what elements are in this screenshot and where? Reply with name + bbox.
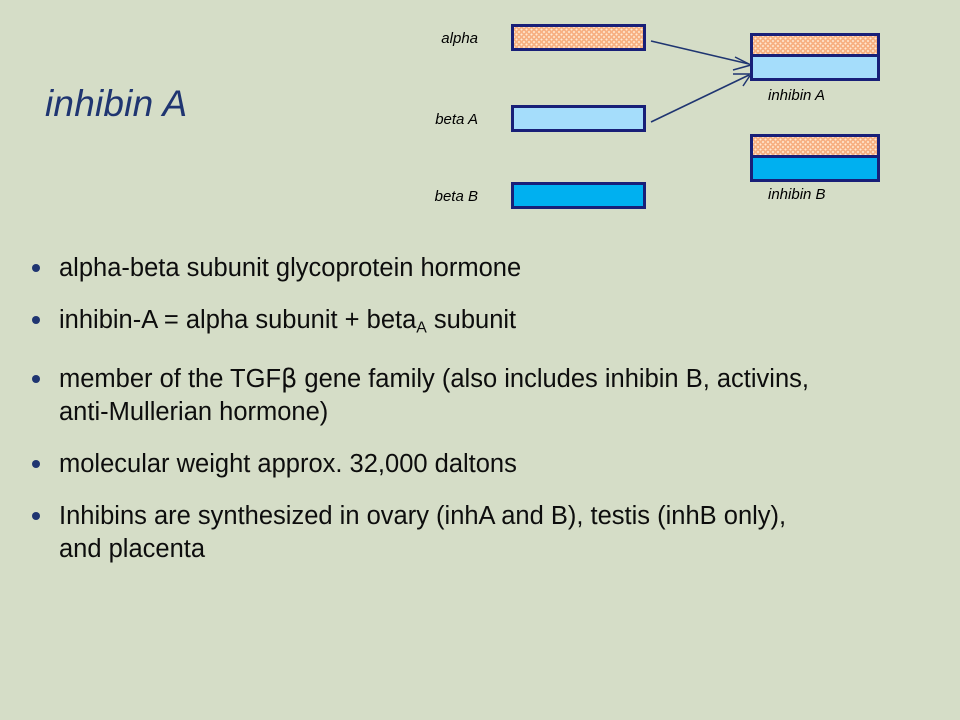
bar-subunit-alpha bbox=[511, 24, 646, 51]
bullet-text: member of the TGFβ gene family (also inc… bbox=[59, 363, 826, 429]
bullet-text-after: subunit bbox=[427, 306, 516, 334]
arrow-alpha-to-inhibinA bbox=[651, 41, 749, 64]
bullet-dot-icon bbox=[32, 460, 40, 468]
list-item: molecular weight approx. 32,000 daltons bbox=[26, 448, 826, 481]
label-complex-inhibin-b: inhibin B bbox=[768, 186, 826, 203]
label-subunit-beta-a: beta A bbox=[358, 111, 478, 128]
list-item: alpha-beta subunit glycoprotein hormone bbox=[26, 252, 826, 285]
list-item: inhibin-A = alpha subunit + betaA subuni… bbox=[26, 304, 826, 344]
label-subunit-beta-b: beta B bbox=[358, 188, 478, 205]
complex-inhibin-b-layer-alpha bbox=[753, 137, 877, 158]
bullet-dot-icon bbox=[32, 512, 40, 520]
arrow-betaA-to-inhibinA bbox=[651, 75, 749, 122]
complex-inhibin-a-layer-beta-a bbox=[753, 57, 877, 78]
bullet-dot-icon bbox=[32, 316, 40, 324]
greek-beta-symbol: β bbox=[281, 364, 297, 394]
bullet-text: inhibin-A = alpha subunit + betaA subuni… bbox=[59, 304, 826, 344]
subunit-diagram: alpha beta A beta B inhibin A inhibin B bbox=[0, 0, 960, 230]
complex-inhibin-b-layer-beta-b bbox=[753, 158, 877, 179]
slide: inhibin A alpha beta A beta B inhibin A bbox=[0, 0, 960, 720]
bar-subunit-beta-b bbox=[511, 182, 646, 209]
arrowhead-alpha bbox=[733, 57, 751, 70]
bullet-text: alpha-beta subunit glycoprotein hormone bbox=[59, 252, 826, 285]
label-complex-inhibin-a: inhibin A bbox=[768, 87, 825, 104]
complex-inhibin-a-layer-alpha bbox=[753, 36, 877, 57]
bullet-text-before: member of the TGF bbox=[59, 365, 281, 393]
bullet-text-before: inhibin-A = alpha subunit + beta bbox=[59, 306, 416, 334]
bar-subunit-beta-a bbox=[511, 105, 646, 132]
list-item: member of the TGFβ gene family (also inc… bbox=[26, 363, 826, 429]
bullet-text: molecular weight approx. 32,000 daltons bbox=[59, 448, 826, 481]
complex-inhibin-b bbox=[750, 134, 880, 182]
bullet-dot-icon bbox=[32, 264, 40, 272]
complex-inhibin-a bbox=[750, 33, 880, 81]
bullet-dot-icon bbox=[32, 375, 40, 383]
list-item: Inhibins are synthesized in ovary (inhA … bbox=[26, 500, 826, 566]
bullet-subscript: A bbox=[416, 319, 427, 336]
label-subunit-alpha: alpha bbox=[358, 30, 478, 47]
bullet-list: alpha-beta subunit glycoprotein hormone … bbox=[26, 252, 826, 585]
bullet-text: Inhibins are synthesized in ovary (inhA … bbox=[59, 500, 826, 566]
